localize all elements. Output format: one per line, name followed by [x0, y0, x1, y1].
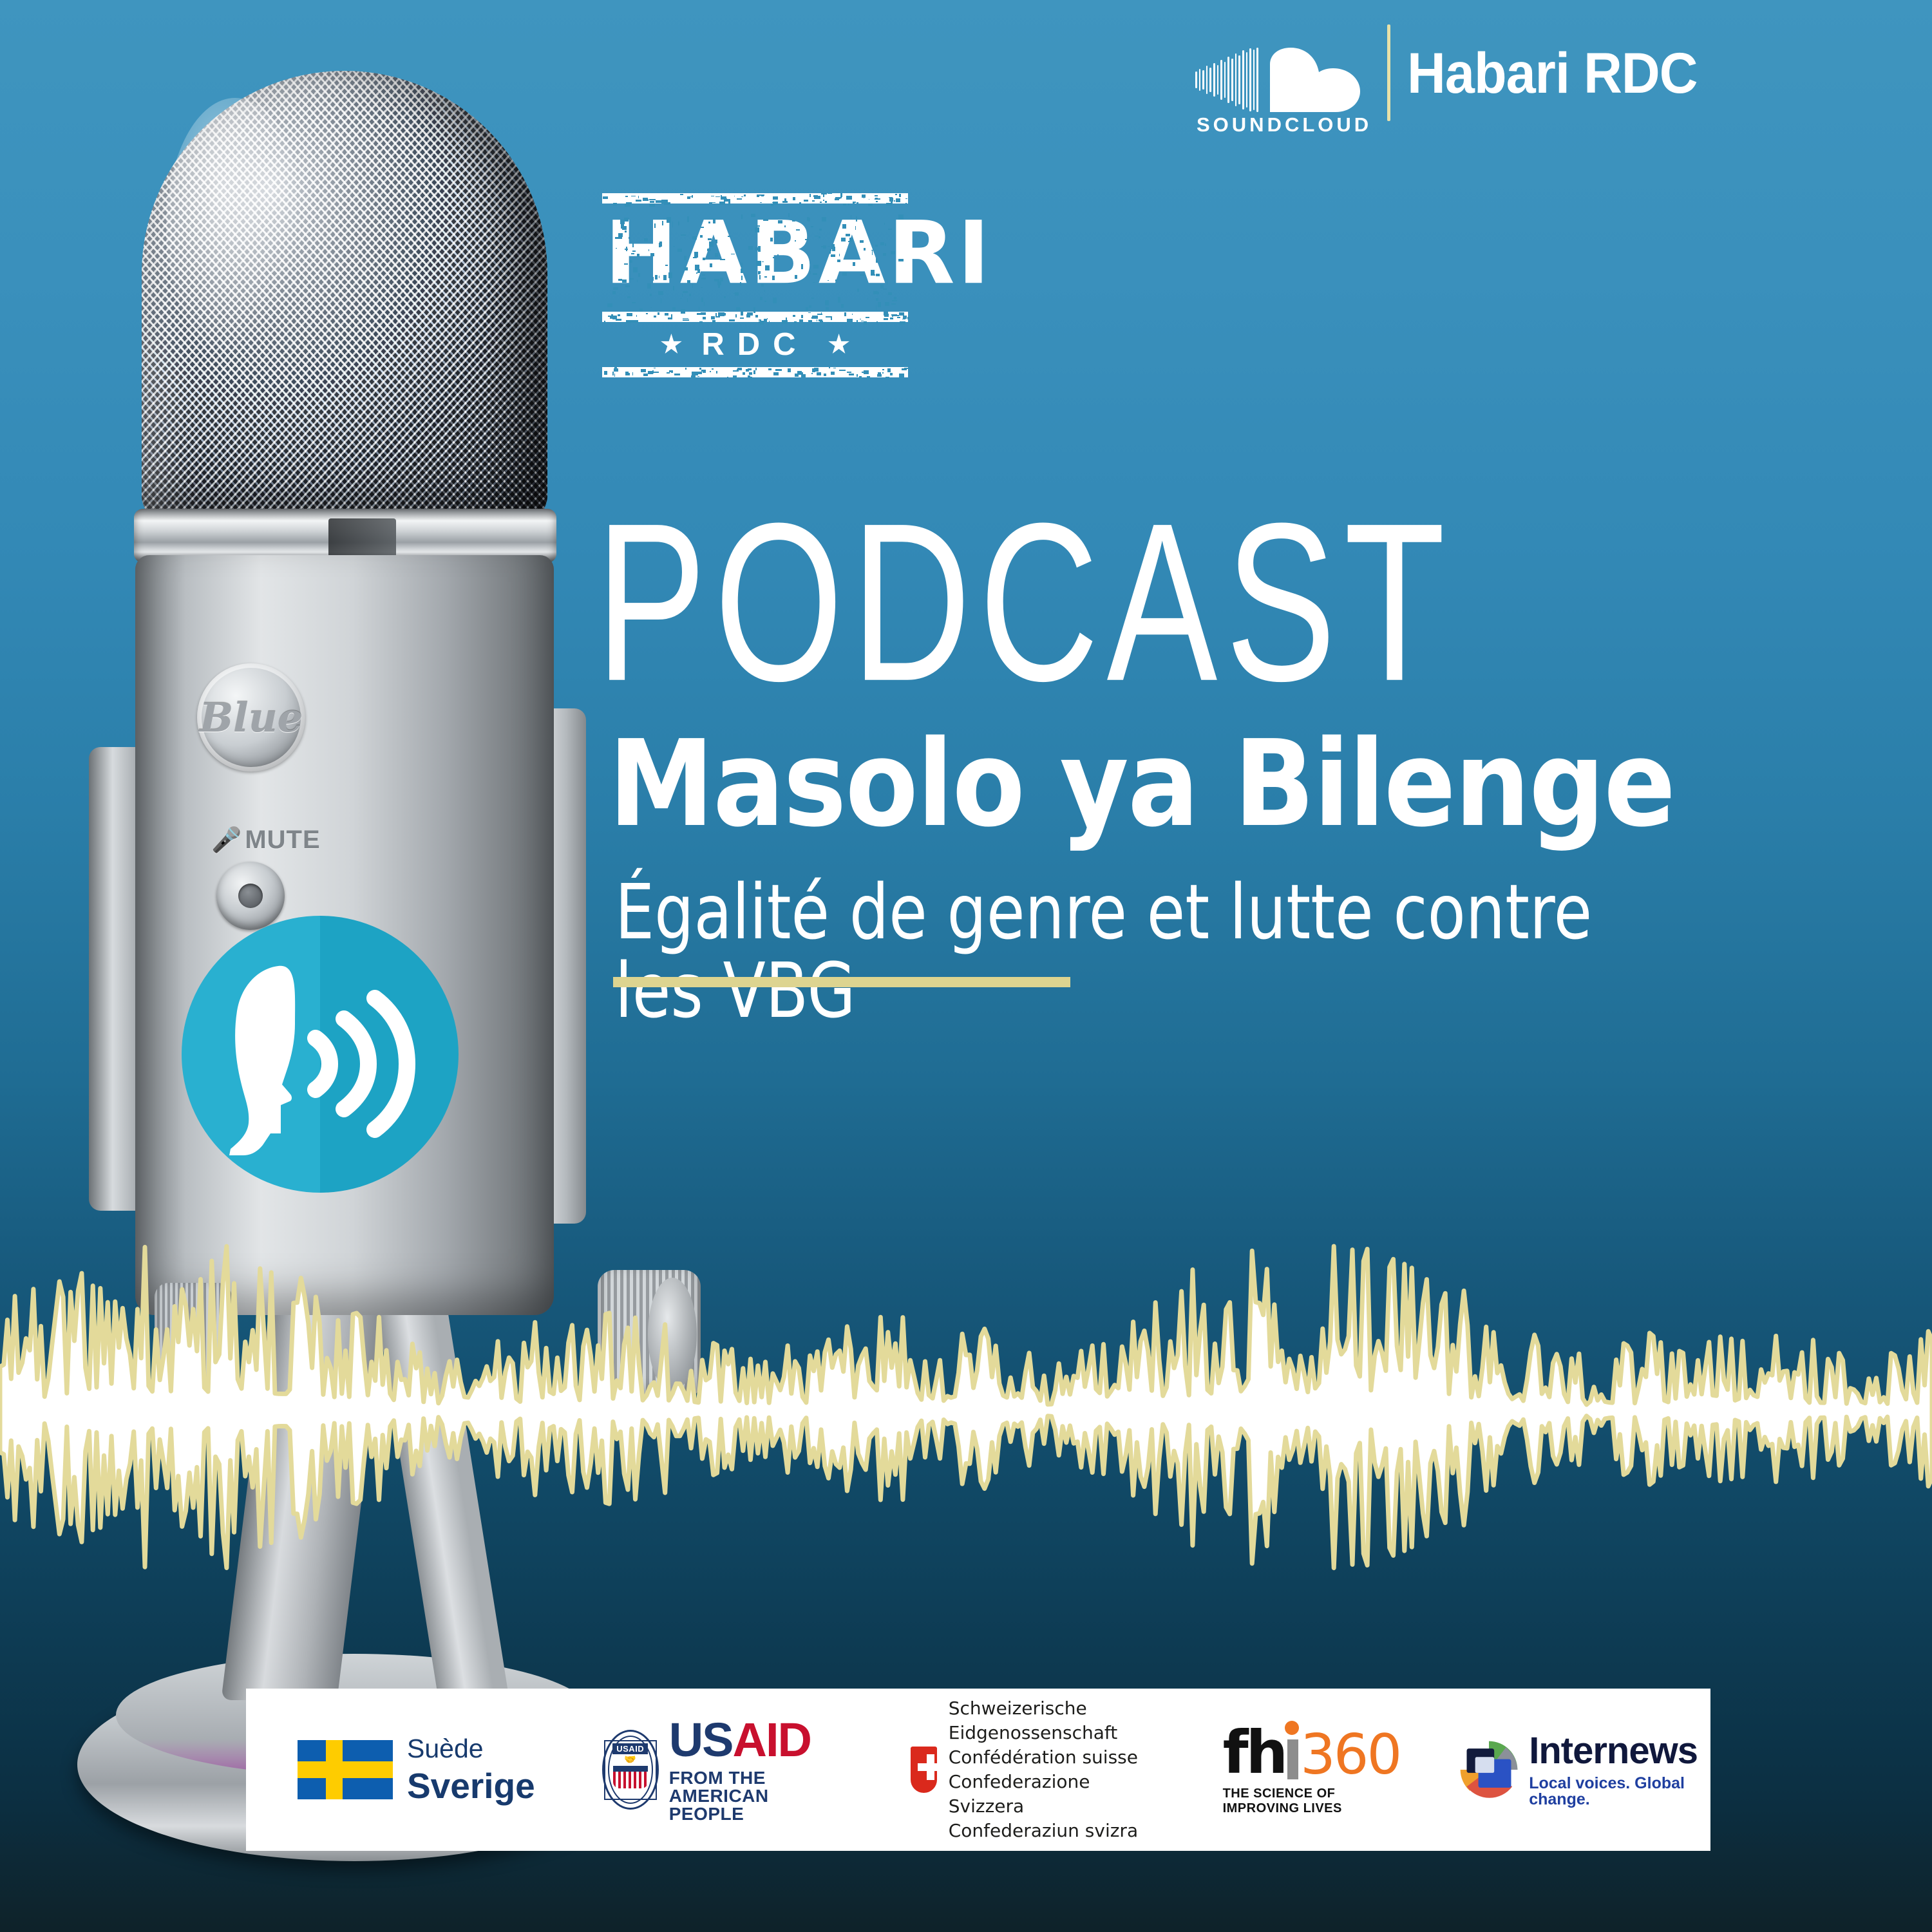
logo-grunge-speck: [622, 226, 627, 230]
logo-grunge-speck: [614, 374, 616, 376]
logo-grunge-speck: [885, 302, 889, 306]
logo-grunge-speck: [687, 298, 688, 302]
logo-grunge-speck: [655, 275, 658, 279]
logo-grunge-speck: [715, 196, 721, 197]
swiss-confederation-lines: Schweizerische Eidgenossenschaft Confédé…: [949, 1696, 1153, 1843]
logo-grunge-speck: [741, 276, 743, 280]
logo-grunge-speck: [849, 238, 853, 242]
logo-grunge-speck: [735, 314, 737, 318]
logo-grunge-speck: [825, 201, 827, 202]
star-left-icon: [660, 334, 682, 355]
logo-grunge-speck: [644, 238, 647, 241]
logo-grunge-speck: [610, 316, 612, 319]
logo-grunge-speck: [821, 246, 825, 247]
logo-grunge-speck: [672, 222, 673, 227]
logo-grunge-speck: [883, 253, 886, 256]
speaking-head-svg: [182, 916, 459, 1193]
logo-grunge-speck: [875, 195, 877, 196]
logo-grunge-speck: [839, 370, 846, 371]
logo-grunge-speck: [880, 242, 884, 245]
logo-grunge-speck: [811, 373, 813, 375]
microphone-illustration: Blue 🎤 MUTE: [39, 64, 689, 1919]
logo-grunge-speck: [801, 374, 806, 377]
logo-grunge-speck: [888, 292, 892, 295]
logo-grunge-speck: [831, 254, 835, 257]
logo-grunge-speck: [813, 282, 815, 283]
donor-logo-swiss[interactable]: Schweizerische Eidgenossenschaft Confédé…: [911, 1689, 1153, 1851]
logo-grunge-speck: [672, 307, 675, 310]
logo-grunge-speck: [646, 313, 648, 314]
logo-grunge-speck: [755, 227, 759, 232]
logo-grunge-speck: [712, 368, 714, 369]
internews-globe-icon: [1459, 1734, 1519, 1806]
logo-grunge-speck: [772, 202, 775, 203]
logo-grunge-speck: [778, 220, 782, 223]
logo-grunge-speck: [680, 194, 683, 195]
logo-grunge-speck: [755, 315, 757, 317]
logo-grunge-speck: [753, 307, 755, 313]
logo-grunge-speck: [784, 225, 786, 228]
logo-grunge-speck: [625, 285, 630, 287]
swiss-line-fr: Confédération suisse: [949, 1745, 1153, 1770]
internews-tagline: Local voices. Global change.: [1529, 1776, 1710, 1808]
logo-grunge-speck: [838, 297, 840, 303]
speaking-head-icon: [182, 916, 459, 1193]
logo-grunge-speck: [888, 229, 892, 230]
logo-grunge-speck: [817, 314, 822, 315]
usaid-seal-icon: USAID 🤝: [602, 1730, 659, 1810]
logo-grunge-speck: [823, 200, 824, 201]
fhi360-wordmark: fh 360: [1223, 1723, 1401, 1783]
logo-grunge-speck: [892, 300, 896, 301]
logo-grunge-speck: [703, 258, 705, 260]
logo-grunge-speck: [718, 285, 721, 288]
logo-grunge-speck: [650, 294, 652, 296]
logo-grunge-speck: [829, 367, 830, 368]
logo-grunge-speck: [625, 196, 628, 197]
logo-grunge-speck: [698, 372, 703, 374]
logo-grunge-speck: [860, 240, 864, 243]
logo-grunge-speck: [866, 317, 869, 319]
logo-grunge-speck: [902, 319, 905, 319]
logo-grunge-speck: [894, 200, 896, 202]
logo-grunge-speck: [741, 263, 743, 267]
logo-grunge-speck: [707, 249, 712, 252]
logo-grunge-speck: [684, 267, 688, 270]
logo-grunge-speck: [899, 312, 904, 316]
logo-grunge-speck: [638, 196, 639, 198]
logo-grunge-speck: [884, 312, 888, 316]
logo-grunge-speck: [625, 204, 630, 207]
logo-grunge-speck: [837, 377, 840, 379]
logo-grunge-speck: [758, 246, 761, 251]
logo-grunge-speck: [692, 372, 697, 375]
logo-grunge-speck: [654, 316, 656, 317]
logo-grunge-speck: [751, 214, 755, 217]
logo-grunge-speck: [747, 312, 752, 316]
logo-grunge-speck: [808, 312, 811, 313]
donor-logo-usaid[interactable]: USAID 🤝 USAID FROM THE AMERICAN PEOPLE: [602, 1689, 849, 1851]
logo-grunge-speck: [613, 203, 616, 205]
logo-grunge-speck: [799, 319, 802, 322]
logo-grunge-speck: [812, 316, 818, 319]
logo-grunge-speck: [822, 217, 826, 222]
logo-grunge-speck: [761, 284, 764, 287]
logo-grunge-speck: [708, 222, 710, 223]
logo-grunge-speck: [681, 234, 685, 236]
logo-grunge-speck: [729, 319, 735, 321]
logo-grunge-speck: [841, 304, 844, 308]
habari-rdc-logo[interactable]: HABARI RDC: [602, 193, 908, 380]
logo-grunge-speck: [744, 194, 745, 196]
logo-grunge-speck: [813, 265, 819, 269]
fhi360-tagline: THE SCIENCE OF IMPROVING LIVES: [1223, 1786, 1401, 1816]
logo-grunge-speck: [708, 238, 712, 240]
logo-grunge-speck: [784, 198, 786, 200]
logo-grunge-speck: [724, 296, 726, 298]
logo-grunge-speck: [835, 279, 837, 282]
logo-grunge-speck: [887, 368, 891, 372]
logo-grunge-speck: [905, 203, 907, 204]
logo-grunge-speck: [768, 368, 772, 370]
logo-grunge-speck: [634, 320, 638, 323]
logo-grunge-speck: [820, 321, 823, 323]
logo-grunge-speck: [828, 280, 828, 281]
logo-grunge-speck: [767, 318, 768, 319]
logo-grunge-speck: [878, 302, 881, 308]
logo-grunge-speck: [814, 368, 819, 372]
logo-grunge-speck: [812, 200, 815, 201]
logo-grunge-speck: [649, 249, 649, 251]
logo-grunge-speck: [678, 222, 679, 225]
logo-grunge-speck: [782, 201, 788, 203]
soundcloud-bar: [1195, 71, 1197, 88]
logo-grunge-speck: [823, 194, 824, 197]
mute-label: 🎤 MUTE: [211, 826, 321, 855]
logo-grunge-speck: [699, 321, 702, 324]
logo-grunge-speck: [876, 298, 878, 300]
logo-grunge-speck: [809, 305, 811, 308]
logo-grunge-speck: [728, 202, 730, 205]
logo-grunge-speck: [899, 374, 904, 377]
logo-grunge-speck: [875, 245, 878, 247]
logo-grunge-speck: [770, 238, 772, 241]
channel-title: Habari RDC: [1407, 40, 1698, 106]
logo-grunge-speck: [889, 198, 893, 201]
logo-grunge-speck: [769, 321, 770, 321]
logo-grunge-speck: [632, 251, 636, 252]
logo-grunge-speck: [876, 258, 878, 263]
logo-grunge-speck: [633, 267, 638, 272]
waveform-path: [0, 1246, 1932, 1568]
logo-grunge-speck: [842, 272, 847, 276]
logo-grunge-speck: [898, 214, 903, 220]
logo-grunge-speck: [719, 202, 725, 205]
logo-grunge-speck: [811, 298, 814, 299]
donor-logo-fhi360[interactable]: fh 360 THE SCIENCE OF IMPROVING LIVES: [1223, 1689, 1401, 1851]
logo-grunge-speck: [699, 307, 699, 311]
logo-grunge-speck: [711, 196, 714, 196]
logo-grunge-speck: [668, 272, 672, 278]
logo-grunge-speck: [846, 234, 850, 236]
logo-grunge-speck: [837, 260, 840, 262]
logo-grunge-speck: [636, 315, 637, 317]
logo-grunge-speck: [811, 226, 813, 228]
logo-grunge-speck: [835, 198, 839, 200]
swiss-line-rm: Confederaziun svizra: [949, 1819, 1153, 1843]
logo-grunge-speck: [876, 201, 878, 202]
logo-grunge-speck: [795, 374, 799, 376]
logo-grunge-speck: [775, 369, 782, 371]
logo-grunge-speck: [759, 275, 761, 279]
microphone-glyph-icon: 🎤: [211, 828, 242, 853]
logo-grunge-speck: [842, 224, 846, 229]
logo-grunge-speck: [855, 226, 857, 230]
mic-grille-icon: [142, 71, 547, 522]
logo-grunge-speck: [715, 320, 715, 323]
logo-grunge-speck: [733, 375, 737, 379]
logo-grunge-speck: [641, 369, 646, 372]
logo-grunge-speck: [735, 292, 739, 296]
logo-grunge-speck: [658, 312, 659, 315]
logo-grunge-speck: [710, 263, 712, 267]
logo-grunge-speck: [843, 204, 846, 205]
logo-grunge-speck: [703, 370, 706, 373]
fhi360-mark-fh: fh: [1223, 1723, 1286, 1783]
page-subtitle: Égalité de genre et lutte contre les VBG: [615, 873, 1695, 1030]
logo-grunge-speck: [743, 372, 745, 375]
logo-grunge-speck: [760, 321, 764, 325]
logo-grunge-speck: [643, 374, 648, 375]
logo-grunge-speck: [700, 235, 703, 238]
logo-grunge-speck: [671, 370, 673, 374]
fhi360-i-dot-icon: [1285, 1721, 1299, 1735]
soundcloud-bar: [1224, 62, 1226, 98]
logo-grunge-speck: [760, 297, 762, 300]
logo-grunge-speck: [749, 372, 752, 374]
logo-grunge-speck: [806, 307, 808, 310]
logo-grunge-speck: [862, 372, 866, 373]
logo-grunge-speck: [905, 198, 907, 199]
logo-grunge-speck: [740, 282, 741, 286]
logo-grunge-speck: [819, 229, 821, 231]
logo-grunge-speck: [772, 276, 775, 280]
logo-grunge-speck: [613, 287, 618, 290]
logo-grunge-speck: [860, 274, 864, 276]
logo-grunge-speck: [703, 317, 706, 319]
logo-grunge-speck: [619, 234, 622, 239]
logo-grunge-speck: [760, 202, 762, 203]
logo-grunge-speck: [751, 230, 752, 231]
logo-grunge-speck: [828, 246, 830, 247]
logo-grunge-speck: [683, 318, 689, 319]
podcast-cover-artwork: Blue 🎤 MUTE: [0, 0, 1932, 1932]
logo-grunge-speck: [748, 246, 753, 250]
logo-grunge-speck: [794, 321, 797, 323]
logo-grunge-speck: [867, 376, 870, 379]
logo-grunge-speck: [846, 196, 851, 199]
logo-grunge-speck: [683, 291, 688, 293]
logo-grunge-speck: [668, 317, 672, 319]
donor-logo-internews[interactable]: Internews Local voices. Global change.: [1459, 1689, 1710, 1851]
logo-grunge-speck: [711, 316, 714, 319]
logo-grunge-speck: [648, 371, 653, 374]
logo-grunge-speck: [898, 259, 904, 262]
logo-grunge-speck: [737, 368, 742, 370]
logo-grunge-speck: [898, 377, 900, 380]
logo-grunge-speck: [851, 215, 851, 218]
logo-grunge-speck: [616, 248, 617, 249]
logo-grunge-speck: [756, 261, 761, 266]
logo-grunge-speck: [764, 276, 768, 278]
logo-grunge-speck: [717, 281, 721, 286]
logo-grunge-speck: [680, 298, 681, 299]
logo-grunge-speck: [782, 283, 786, 284]
logo-grunge-speck: [650, 307, 652, 308]
logo-grunge-speck: [687, 196, 690, 198]
sweden-flag-icon: [298, 1740, 393, 1799]
logo-grunge-speck: [907, 317, 909, 319]
logo-grunge-speck: [734, 196, 735, 197]
logo-grunge-speck: [694, 252, 698, 257]
donor-logo-sweden[interactable]: Suède Sverige: [298, 1689, 535, 1851]
logo-grunge-speck: [814, 196, 820, 199]
logo-grunge-speck: [793, 315, 795, 317]
logo-grunge-speck: [654, 223, 656, 228]
usaid-tagline: FROM THE AMERICAN PEOPLE: [669, 1769, 849, 1823]
logo-grunge-speck: [665, 265, 668, 266]
logo-grunge-speck: [733, 370, 739, 372]
logo-grunge-speck: [737, 198, 742, 200]
logo-grunge-speck: [871, 250, 876, 251]
logo-grunge-speck: [801, 264, 803, 269]
logo-grunge-speck: [819, 236, 820, 238]
logo-grunge-speck: [764, 290, 765, 292]
logo-grunge-speck: [765, 265, 770, 270]
logo-grunge-speck: [629, 259, 630, 262]
logo-grunge-speck: [741, 214, 743, 219]
logo-grunge-speck: [890, 317, 894, 319]
logo-grunge-speck: [618, 279, 622, 281]
logo-grunge-speck: [875, 198, 880, 200]
logo-grunge-speck: [677, 249, 682, 252]
logo-grunge-speck: [627, 313, 632, 316]
logo-grunge-speck: [904, 368, 909, 369]
swiss-line-it: Confederazione Svizzera: [949, 1770, 1153, 1819]
logo-grunge-speck: [875, 292, 878, 294]
logo-grunge-speck: [883, 289, 887, 290]
logo-grunge-speck: [701, 278, 706, 279]
logo-grunge-speck: [697, 376, 699, 377]
logo-grunge-speck: [701, 227, 704, 227]
logo-grunge-speck: [663, 275, 667, 281]
logo-grunge-speck: [741, 312, 743, 315]
logo-grunge-speck: [728, 236, 731, 236]
internews-wordmark: Internews: [1529, 1732, 1710, 1770]
logo-grunge-speck: [862, 194, 866, 198]
logo-grunge-speck: [630, 321, 631, 322]
logo-grunge-speck: [753, 370, 755, 374]
logo-grunge-speck: [659, 243, 661, 247]
logo-grunge-speck: [731, 254, 735, 255]
star-right-icon: [828, 334, 850, 355]
logo-grunge-speck: [682, 294, 683, 298]
logo-grunge-speck: [844, 312, 846, 316]
logo-grunge-speck: [632, 243, 634, 247]
logo-grunge-speck: [792, 220, 796, 222]
logo-grunge-speck: [711, 202, 715, 203]
logo-grunge-speck: [820, 202, 822, 204]
logo-grunge-speck: [777, 254, 779, 256]
logo-grunge-speck: [687, 280, 690, 283]
soundcloud-bar: [1199, 69, 1201, 91]
blue-badge-label: Blue: [200, 694, 303, 741]
logo-grunge-speck: [629, 237, 630, 239]
logo-grunge-speck: [885, 377, 889, 379]
logo-grunge-speck: [630, 278, 634, 279]
logo-grunge-speck: [882, 372, 884, 374]
logo-grunge-speck: [826, 307, 829, 310]
logo-grunge-speck: [839, 254, 840, 256]
mute-button[interactable]: [216, 862, 285, 930]
logo-grunge-speck: [604, 371, 607, 375]
logo-grunge-speck: [825, 300, 829, 305]
logo-grunge-speck: [867, 298, 868, 299]
logo-grunge-speck: [757, 225, 761, 227]
logo-grunge-speck: [612, 372, 614, 375]
logo-grunge-speck: [663, 219, 667, 220]
logo-grunge-speck: [654, 368, 656, 368]
soundcloud-channel-bar[interactable]: SOUNDCLOUD Habari RDC: [1190, 12, 1719, 134]
logo-grunge-speck: [612, 291, 616, 294]
logo-grunge-speck: [604, 321, 605, 323]
logo-grunge-speck: [715, 313, 717, 316]
logo-grunge-speck: [864, 321, 866, 325]
page-title: Masolo ya Bilenge: [609, 724, 1674, 844]
logo-grunge-speck: [831, 244, 835, 249]
logo-grunge-speck: [875, 198, 878, 199]
logo-grunge-speck: [626, 247, 627, 251]
logo-grunge-speck: [701, 312, 706, 315]
logo-grunge-speck: [702, 274, 705, 276]
logo-grunge-speck: [695, 265, 700, 270]
soundcloud-bar: [1206, 66, 1208, 94]
fhi360-mark-360: 360: [1300, 1727, 1400, 1783]
logo-grunge-speck: [704, 302, 705, 306]
logo-grunge-speck: [815, 236, 819, 236]
logo-grunge-speck: [850, 319, 852, 322]
logo-grunge-speck: [796, 229, 800, 231]
logo-grunge-speck: [849, 374, 854, 375]
logo-grunge-speck: [663, 201, 667, 203]
logo-grunge-speck: [857, 374, 858, 377]
logo-grunge-speck: [710, 371, 712, 372]
logo-grunge-speck: [871, 270, 875, 276]
logo-grunge-speck: [808, 320, 813, 322]
logo-grunge-speck: [643, 199, 649, 201]
logo-grunge-speck: [656, 200, 661, 203]
logo-grunge-speck: [673, 246, 675, 247]
soundcloud-bar: [1238, 55, 1240, 104]
logo-grunge-speck: [853, 262, 855, 266]
logo-grunge-speck: [649, 199, 656, 200]
logo-grunge-speck: [627, 296, 630, 298]
logo-grunge-speck: [661, 298, 661, 303]
logo-grunge-speck: [764, 301, 766, 302]
logo-grunge-speck: [804, 200, 808, 202]
logo-grunge-speck: [673, 286, 674, 290]
logo-grunge-speck: [612, 316, 618, 319]
